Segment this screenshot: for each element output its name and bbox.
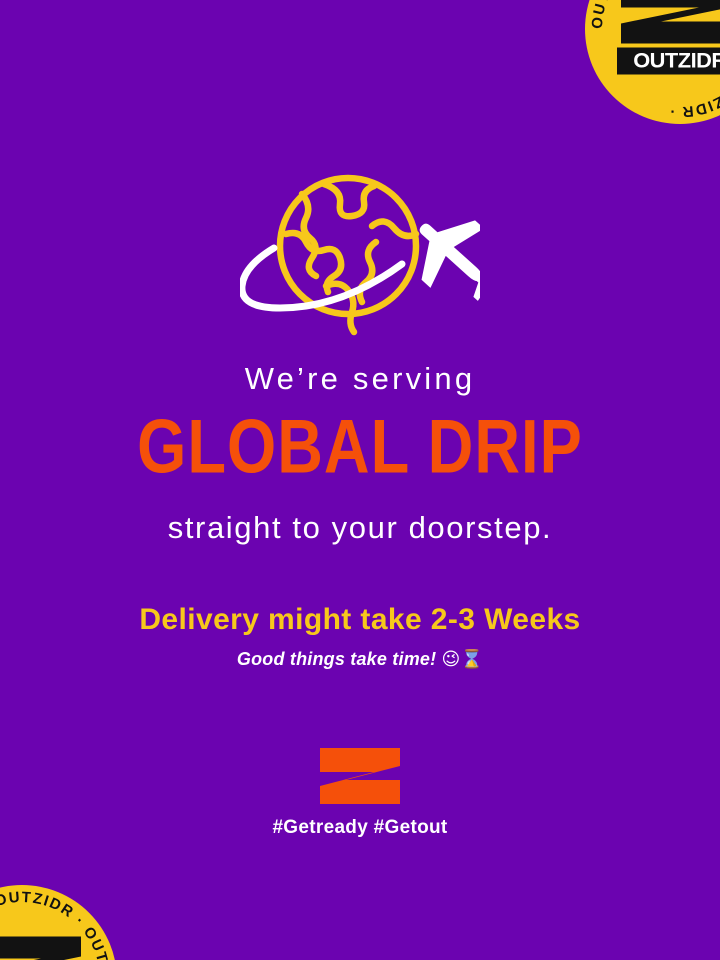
delivery-notice-text: Delivery might take 2-3 Weeks xyxy=(0,603,720,636)
brand-badge-bottom-left: OUTZIDR · OUTZIDR · OUTZIDR · OUTZIDR · … xyxy=(0,885,117,960)
badge-wordmark-bar-top-right: OUTZIDR xyxy=(617,48,720,75)
copy-block: We’re serving GLOBAL DRIP straight to yo… xyxy=(0,362,720,670)
sub-note-line: Good things take time! 😉⌛ xyxy=(0,650,720,670)
orbit-swoosh-icon xyxy=(242,248,402,308)
hashtags-text: #Getready #Getout xyxy=(272,817,447,839)
outzidr-z-logo-icon xyxy=(320,748,400,804)
brand-badge-top-right: OUTZIDR · OUTZIDR · OUTZIDR · OUTZIDR · … xyxy=(585,0,720,124)
z-mark-icon xyxy=(0,935,85,960)
z-mark-icon xyxy=(617,0,720,46)
kicker-text: We’re serving xyxy=(0,362,720,396)
badge-core-top-right: OUTZIDR xyxy=(617,0,720,75)
wink-hourglass-emoji: 😉⌛ xyxy=(442,649,484,670)
globe-airplane-icon xyxy=(240,168,480,343)
badge-wordmark-top-right: OUTZIDR xyxy=(633,51,720,72)
footer-lockup: #Getready #Getout xyxy=(0,748,720,839)
hero-illustration xyxy=(0,168,720,343)
sub-note-text: Good things take time! xyxy=(237,649,436,669)
promo-poster: OUTZIDR · OUTZIDR · OUTZIDR · OUTZIDR · … xyxy=(0,0,720,960)
badge-core-bottom-left: OUTZIDR xyxy=(0,935,85,960)
tagline-text: straight to your doorstep. xyxy=(0,511,720,545)
headline-text: GLOBAL DRIP xyxy=(0,408,720,487)
